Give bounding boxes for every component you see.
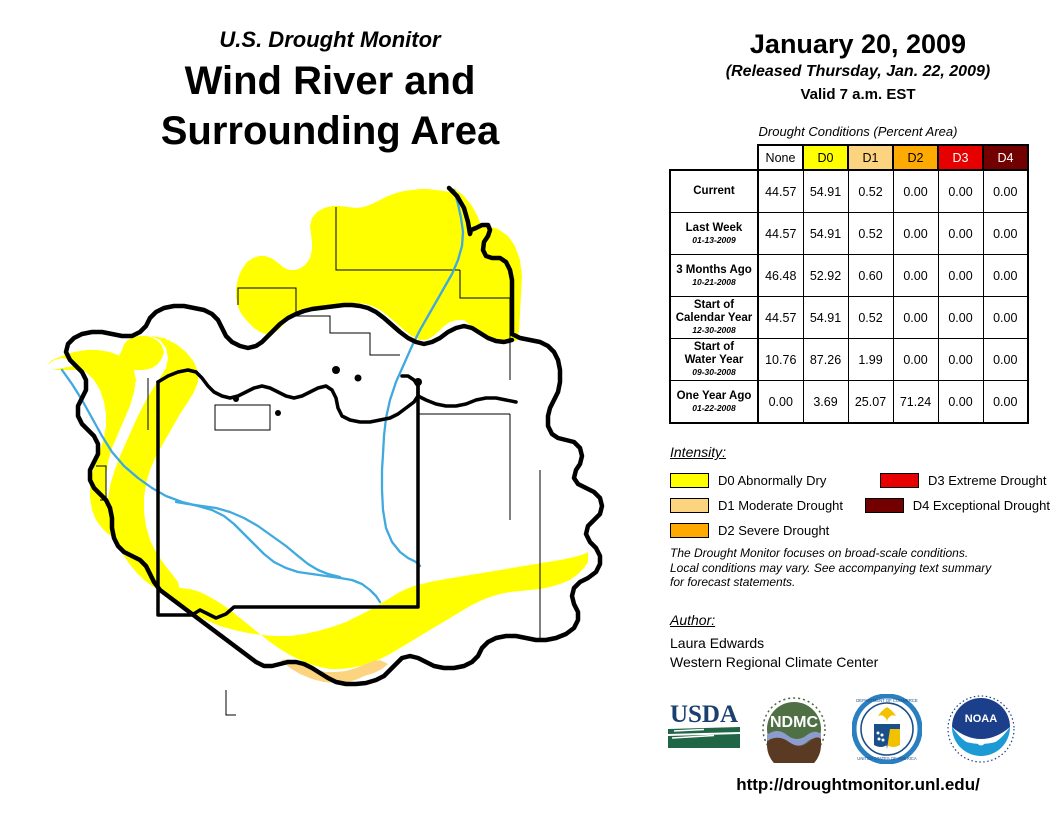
author-block: Laura Edwards Western Regional Climate C… bbox=[670, 634, 878, 672]
disclaimer-text: The Drought Monitor focuses on broad-sca… bbox=[670, 546, 1030, 590]
row-label-text: Last Week bbox=[671, 222, 757, 235]
page-title: Wind River and Surrounding Area bbox=[0, 56, 660, 156]
website-url: http://droughtmonitor.unl.edu/ bbox=[660, 775, 1056, 795]
cell-3months-d3: 0.00 bbox=[938, 255, 983, 297]
drought-monitor-kicker: U.S. Drought Monitor bbox=[0, 26, 660, 54]
legend-row: D1 Moderate Drought D4 Exceptional Droug… bbox=[670, 493, 1050, 518]
city-dot-3 bbox=[233, 396, 239, 402]
cell-lastweek-d0: 54.91 bbox=[803, 213, 848, 255]
row-label-text-line1: Start of bbox=[671, 299, 757, 312]
legend-swatch-d4 bbox=[865, 498, 904, 513]
row-label-text: Current bbox=[671, 185, 757, 198]
legend-swatch-d1 bbox=[670, 498, 709, 513]
column-header-d4: D4 bbox=[983, 145, 1028, 170]
column-header-d0: D0 bbox=[803, 145, 848, 170]
river-tributary bbox=[176, 502, 340, 577]
basin-inner-ne bbox=[418, 396, 516, 406]
county-line-south-1 bbox=[226, 690, 236, 715]
cell-3months-none: 46.48 bbox=[758, 255, 803, 297]
cell-calyear-d4: 0.00 bbox=[983, 297, 1028, 339]
county-line-west-2 bbox=[215, 405, 270, 430]
row-label-date: 09-30-2008 bbox=[671, 367, 757, 378]
drought-map[interactable] bbox=[40, 170, 660, 770]
cell-current-d4: 0.00 bbox=[983, 170, 1028, 213]
city-dot-4 bbox=[275, 410, 281, 416]
author-heading: Author: bbox=[670, 612, 715, 628]
cell-current-d0: 54.91 bbox=[803, 170, 848, 213]
intensity-legend: D0 Abnormally Dry D3 Extreme Drought D1 … bbox=[670, 468, 1050, 543]
cell-wateryear-d0: 87.26 bbox=[803, 339, 848, 381]
legend-swatch-d0 bbox=[670, 473, 709, 488]
released-date: (Released Thursday, Jan. 22, 2009) bbox=[660, 61, 1056, 83]
report-date: January 20, 2009 bbox=[660, 28, 1056, 60]
map-svg[interactable] bbox=[40, 170, 660, 770]
city-dot-1 bbox=[332, 366, 340, 374]
author-name: Laura Edwards bbox=[670, 634, 878, 653]
row-label-start-of-water-year: Start of Water Year 09-30-2008 bbox=[670, 339, 758, 381]
row-label-text-line1: Start of bbox=[671, 341, 757, 354]
row-label-date: 10-21-2008 bbox=[671, 277, 757, 288]
legend-item-d2: D2 Severe Drought bbox=[670, 523, 880, 538]
cell-wateryear-d4: 0.00 bbox=[983, 339, 1028, 381]
svg-text:USDA: USDA bbox=[670, 701, 738, 728]
svg-text:NOAA: NOAA bbox=[965, 713, 997, 725]
legend-row: D2 Severe Drought bbox=[670, 518, 1050, 543]
cell-oneyear-d0: 3.69 bbox=[803, 381, 848, 424]
cell-calyear-none: 44.57 bbox=[758, 297, 803, 339]
legend-label-d3: D3 Extreme Drought bbox=[928, 473, 1047, 488]
table-row: Start of Calendar Year 12-30-2008 44.57 … bbox=[670, 297, 1028, 339]
cell-calyear-d0: 54.91 bbox=[803, 297, 848, 339]
cell-lastweek-d4: 0.00 bbox=[983, 213, 1028, 255]
map-title-block: U.S. Drought Monitor Wind River and Surr… bbox=[0, 26, 660, 156]
row-label-text: 3 Months Ago bbox=[671, 264, 757, 277]
legend-label-d0: D0 Abnormally Dry bbox=[718, 473, 826, 488]
cell-lastweek-d2: 0.00 bbox=[893, 213, 938, 255]
legend-label-d4: D4 Exceptional Drought bbox=[913, 498, 1050, 513]
date-block: January 20, 2009 (Released Thursday, Jan… bbox=[660, 28, 1056, 105]
ndmc-logo: NDMC bbox=[760, 695, 828, 763]
legend-item-d3: D3 Extreme Drought bbox=[880, 473, 1047, 488]
row-label-3-months-ago: 3 Months Ago 10-21-2008 bbox=[670, 255, 758, 297]
column-header-d1: D1 bbox=[848, 145, 893, 170]
valid-time: Valid 7 a.m. EST bbox=[660, 84, 1056, 105]
row-label-one-year-ago: One Year Ago 01-22-2008 bbox=[670, 381, 758, 424]
cell-lastweek-d1: 0.52 bbox=[848, 213, 893, 255]
row-label-text-line2: Calendar Year bbox=[671, 312, 757, 325]
usda-logo: USDA bbox=[664, 698, 744, 754]
column-header-d3: D3 bbox=[938, 145, 983, 170]
table-corner-cell bbox=[670, 145, 758, 170]
cell-calyear-d3: 0.00 bbox=[938, 297, 983, 339]
cell-3months-d2: 0.00 bbox=[893, 255, 938, 297]
row-label-start-of-calendar-year: Start of Calendar Year 12-30-2008 bbox=[670, 297, 758, 339]
cell-lastweek-none: 44.57 bbox=[758, 213, 803, 255]
svg-text:DEPARTMENT OF COMMERCE: DEPARTMENT OF COMMERCE bbox=[856, 698, 918, 703]
cell-oneyear-d1: 25.07 bbox=[848, 381, 893, 424]
cell-oneyear-d4: 0.00 bbox=[983, 381, 1028, 424]
table-row: 3 Months Ago 10-21-2008 46.48 52.92 0.60… bbox=[670, 255, 1028, 297]
cell-current-none: 44.57 bbox=[758, 170, 803, 213]
cell-calyear-d2: 0.00 bbox=[893, 297, 938, 339]
table-caption: Drought Conditions (Percent Area) bbox=[660, 124, 1056, 139]
disclaimer-line-3: for forecast statements. bbox=[670, 575, 1030, 590]
table-row: Start of Water Year 09-30-2008 10.76 87.… bbox=[670, 339, 1028, 381]
cell-3months-d1: 0.60 bbox=[848, 255, 893, 297]
row-label-current: Current bbox=[670, 170, 758, 213]
table-row: Last Week 01-13-2009 44.57 54.91 0.52 0.… bbox=[670, 213, 1028, 255]
legend-row: D0 Abnormally Dry D3 Extreme Drought bbox=[670, 468, 1050, 493]
noaa-doc-seal: DEPARTMENT OF COMMERCE UNITED STATES OF … bbox=[852, 694, 922, 764]
cell-wateryear-d2: 0.00 bbox=[893, 339, 938, 381]
logo-strip: USDA NDMC DEPARTMENT OF COMMERCE UNITED … bbox=[660, 694, 1056, 764]
cell-current-d3: 0.00 bbox=[938, 170, 983, 213]
table-header-row: None D0 D1 D2 D3 D4 bbox=[670, 145, 1028, 170]
cell-oneyear-d3: 0.00 bbox=[938, 381, 983, 424]
svg-text:NDMC: NDMC bbox=[770, 714, 818, 731]
cell-lastweek-d3: 0.00 bbox=[938, 213, 983, 255]
cell-wateryear-d3: 0.00 bbox=[938, 339, 983, 381]
legend-swatch-d3 bbox=[880, 473, 919, 488]
disclaimer-line-1: The Drought Monitor focuses on broad-sca… bbox=[670, 546, 1030, 561]
intensity-heading: Intensity: bbox=[670, 444, 726, 460]
city-dot-5 bbox=[414, 378, 422, 386]
row-label-date: 01-22-2008 bbox=[671, 403, 757, 414]
city-dot-2 bbox=[355, 375, 362, 382]
cell-current-d1: 0.52 bbox=[848, 170, 893, 213]
drought-conditions-table: None D0 D1 D2 D3 D4 Current 44.57 54.91 … bbox=[669, 144, 1029, 424]
cell-oneyear-d2: 71.24 bbox=[893, 381, 938, 424]
legend-label-d1: D1 Moderate Drought bbox=[718, 498, 843, 513]
legend-label-d2: D2 Severe Drought bbox=[718, 523, 829, 538]
cell-calyear-d1: 0.52 bbox=[848, 297, 893, 339]
svg-text:UNITED STATES OF AMERICA: UNITED STATES OF AMERICA bbox=[857, 756, 917, 761]
d0-area-south bbox=[158, 552, 588, 669]
row-label-last-week: Last Week 01-13-2009 bbox=[670, 213, 758, 255]
page-title-line-2: Surrounding Area bbox=[0, 106, 660, 156]
legend-item-d4: D4 Exceptional Drought bbox=[865, 498, 1050, 513]
row-label-date: 01-13-2009 bbox=[671, 235, 757, 246]
disclaimer-line-2: Local conditions may vary. See accompany… bbox=[670, 561, 1030, 576]
cell-3months-d0: 52.92 bbox=[803, 255, 848, 297]
legend-swatch-d2 bbox=[670, 523, 709, 538]
column-header-none: None bbox=[758, 145, 803, 170]
author-affiliation: Western Regional Climate Center bbox=[670, 653, 878, 672]
legend-item-d1: D1 Moderate Drought bbox=[670, 498, 865, 513]
table-row: Current 44.57 54.91 0.52 0.00 0.00 0.00 bbox=[670, 170, 1028, 213]
table-row: One Year Ago 01-22-2008 0.00 3.69 25.07 … bbox=[670, 381, 1028, 424]
cell-oneyear-none: 0.00 bbox=[758, 381, 803, 424]
legend-item-d0: D0 Abnormally Dry bbox=[670, 473, 880, 488]
noaa-logo: NOAA bbox=[946, 694, 1016, 764]
column-header-d2: D2 bbox=[893, 145, 938, 170]
cell-wateryear-none: 10.76 bbox=[758, 339, 803, 381]
reservation-boundary bbox=[158, 380, 418, 618]
row-label-date: 12-30-2008 bbox=[671, 325, 757, 336]
cell-3months-d4: 0.00 bbox=[983, 255, 1028, 297]
cell-wateryear-d1: 1.99 bbox=[848, 339, 893, 381]
cell-current-d2: 0.00 bbox=[893, 170, 938, 213]
row-label-text-line2: Water Year bbox=[671, 354, 757, 367]
page-title-line-1: Wind River and bbox=[0, 56, 660, 106]
row-label-text: One Year Ago bbox=[671, 390, 757, 403]
